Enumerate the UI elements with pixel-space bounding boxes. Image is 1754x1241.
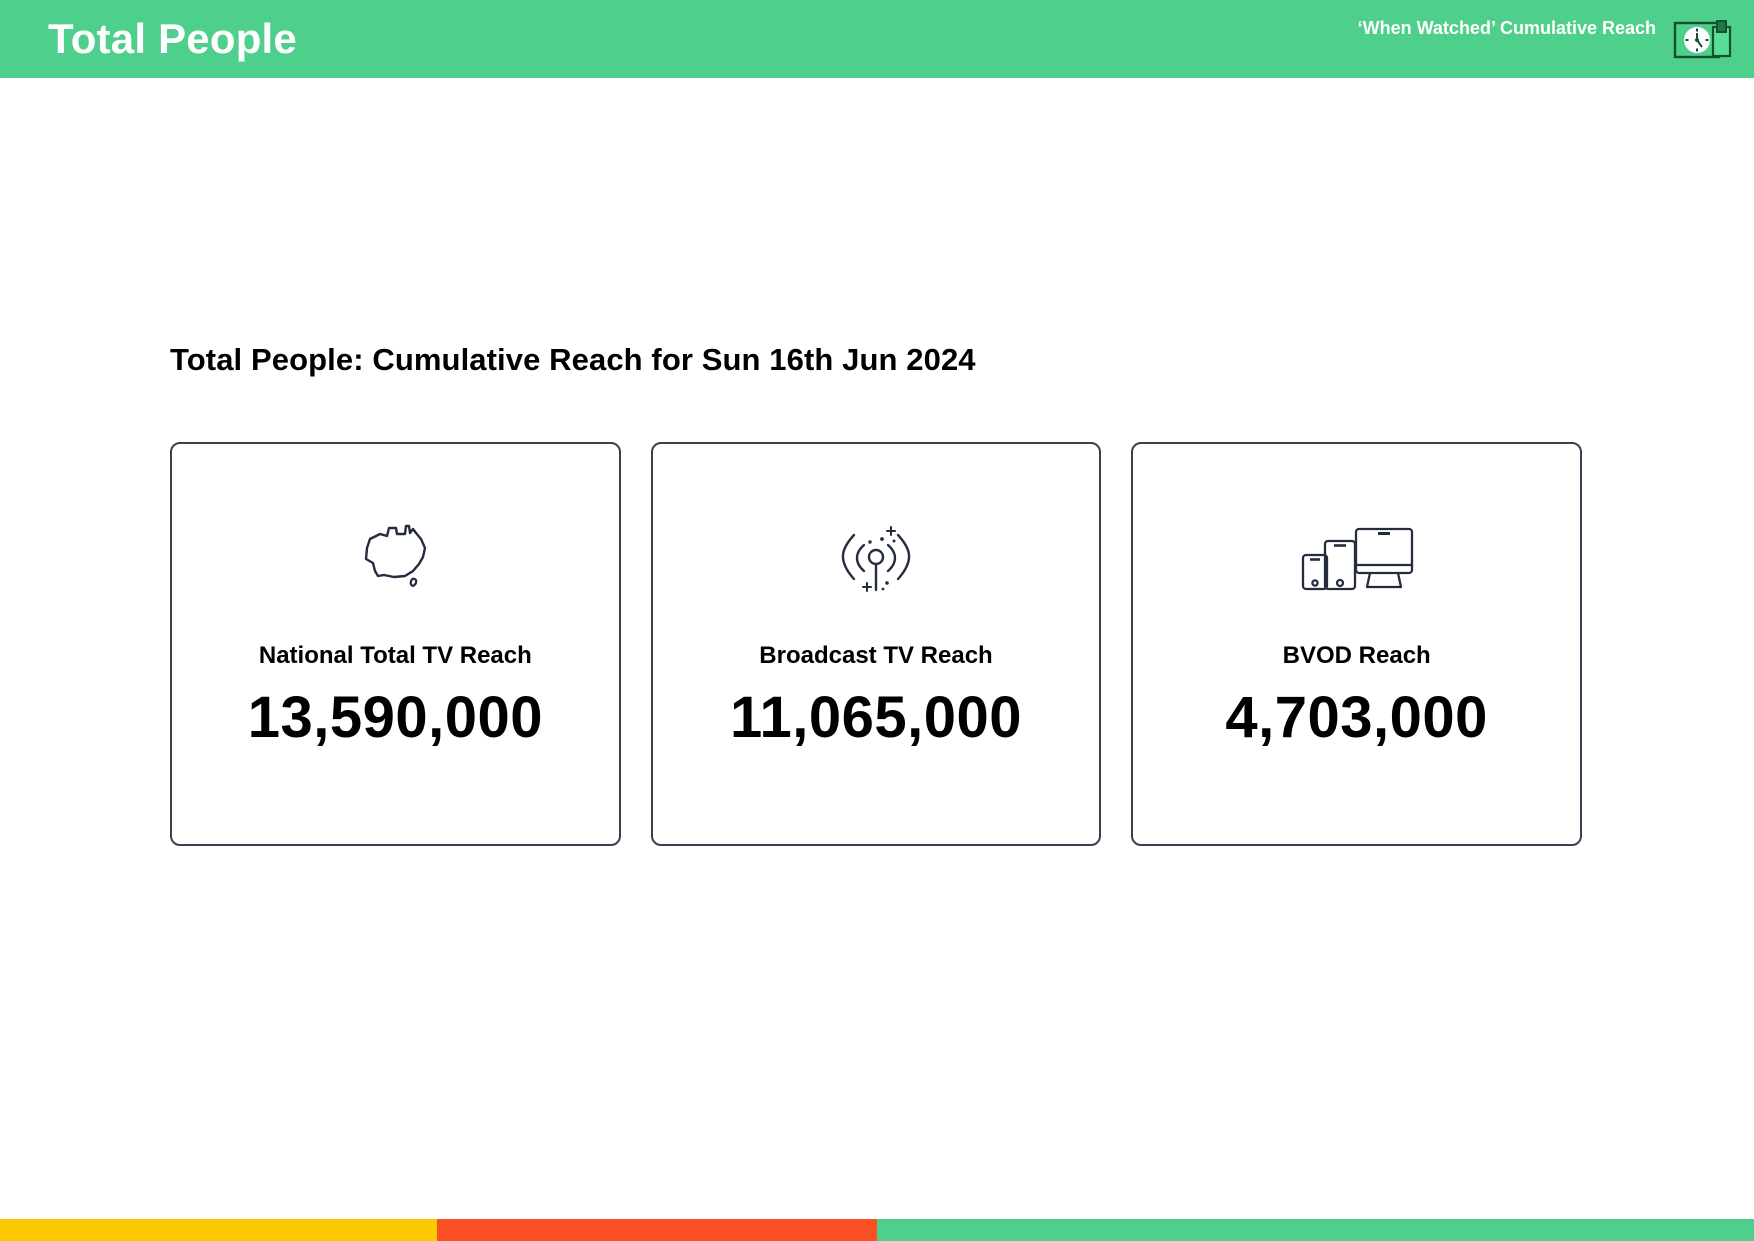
metric-card-bvod-reach[interactable]: BVOD Reach 4,703,000: [1131, 442, 1582, 846]
footer-segment-yellow: [0, 1219, 437, 1241]
metric-card-value: 11,065,000: [730, 684, 1022, 751]
devices-icon: [1298, 515, 1416, 601]
page-header-title: Total People: [48, 18, 297, 60]
metric-card-broadcast-tv-reach[interactable]: Broadcast TV Reach 11,065,000: [651, 442, 1102, 846]
metric-card-label: BVOD Reach: [1283, 642, 1431, 670]
metric-card-national-total-tv-reach[interactable]: National Total TV Reach 13,590,000: [170, 442, 621, 846]
header-subtitle: ‘When Watched’ Cumulative Reach: [1358, 14, 1656, 39]
header-right-group: ‘When Watched’ Cumulative Reach: [1358, 0, 1736, 78]
page-title: Total People: Cumulative Reach for Sun 1…: [170, 342, 976, 378]
slide-root: Total People ‘When Watched’ Cumulative R…: [0, 0, 1754, 1241]
broadcast-antenna-icon: [830, 515, 922, 601]
australia-map-icon: [349, 515, 441, 601]
tv-clock-mobile-icon: [1672, 14, 1736, 68]
footer-segment-green: [877, 1219, 1754, 1241]
card-icon-slot: [830, 512, 922, 604]
metric-card-label: National Total TV Reach: [259, 642, 532, 670]
metric-card-row: National Total TV Reach 13,590,000: [170, 442, 1582, 846]
header-bar: Total People ‘When Watched’ Cumulative R…: [0, 0, 1754, 78]
metric-card-label: Broadcast TV Reach: [759, 642, 992, 670]
metric-card-value: 13,590,000: [248, 684, 543, 751]
card-icon-slot: [349, 512, 441, 604]
metric-card-value: 4,703,000: [1225, 684, 1488, 751]
card-icon-slot: [1298, 512, 1416, 604]
footer-segment-orange: [437, 1219, 877, 1241]
footer-color-bar: [0, 1219, 1754, 1241]
